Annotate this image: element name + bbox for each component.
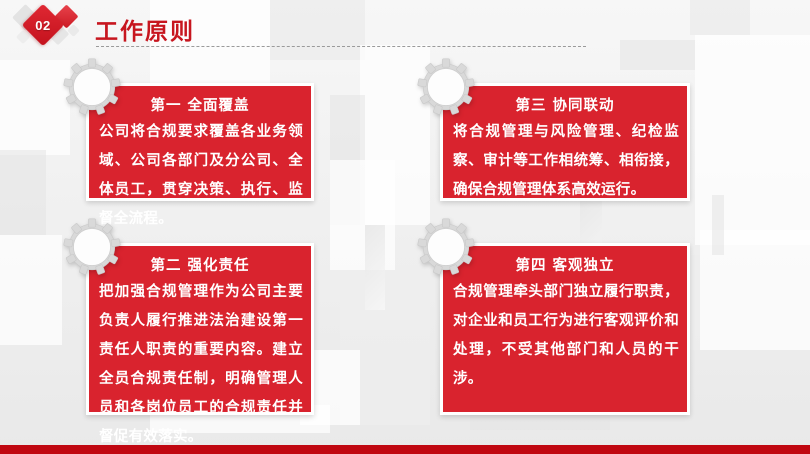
card-body: 将合规管理与风险管理、纪检监察、审计等工作相统筹、相衔接，确保合规管理体系高效运… [453, 118, 679, 205]
bg-block [0, 60, 70, 155]
principle-card[interactable]: 第二 强化责任 把加强合规管理作为公司主要负责人履行推进法治建设第一责任人职责的… [86, 243, 314, 415]
gear-icon [416, 57, 476, 117]
card-surface: 第三 协同联动 将合规管理与风险管理、纪检监察、审计等工作相统筹、相衔接，确保合… [440, 83, 690, 201]
gear-icon [416, 217, 476, 277]
footer-accent-bar [0, 445, 810, 454]
card-title: 第四 客观独立 [443, 254, 687, 275]
section-number-label: 02 [28, 10, 58, 40]
slide-header: 02 工作原则 [0, 0, 810, 56]
card-title: 第二 强化责任 [89, 254, 311, 275]
card-body: 公司将合规要求覆盖各业务领域、公司各部门及分公司、全体员工，贯穿决策、执行、监督… [99, 118, 303, 234]
principle-card[interactable]: 第一 全面覆盖 公司将合规要求覆盖各业务领域、公司各部门及分公司、全体员工，贯穿… [86, 83, 314, 201]
bg-block [0, 235, 62, 345]
principle-card[interactable]: 第四 客观独立 合规管理牵头部门独立履行职责，对企业和员工行为进行客观评价和处理… [440, 243, 690, 415]
slide-canvas: 02 工作原则 第一 全面覆盖 公司将合规要求覆盖各业务领域、公司各部门及分公司… [0, 0, 810, 454]
page-title: 工作原则 [95, 12, 195, 46]
bg-block [712, 195, 724, 255]
gear-icon [62, 57, 122, 117]
card-title: 第一 全面覆盖 [89, 94, 311, 115]
bg-block [0, 150, 46, 235]
card-body: 把加强合规管理作为公司主要负责人履行推进法治建设第一责任人职责的重要内容。建立全… [99, 278, 303, 452]
card-body: 合规管理牵头部门独立履行职责，对企业和员工行为进行客观评价和处理，不受其他部门和… [453, 278, 679, 394]
gear-icon [62, 217, 122, 277]
bg-block [330, 160, 395, 270]
card-title: 第三 协同联动 [443, 94, 687, 115]
section-number-badge: 02 [14, 2, 92, 54]
card-surface: 第四 客观独立 合规管理牵头部门独立履行职责，对企业和员工行为进行客观评价和处理… [440, 243, 690, 415]
bg-shade [365, 225, 385, 310]
principle-card[interactable]: 第三 协同联动 将合规管理与风险管理、纪检监察、审计等工作相统筹、相衔接，确保合… [440, 83, 690, 201]
decor-diamond-icon [67, 24, 80, 37]
title-divider [96, 46, 586, 47]
